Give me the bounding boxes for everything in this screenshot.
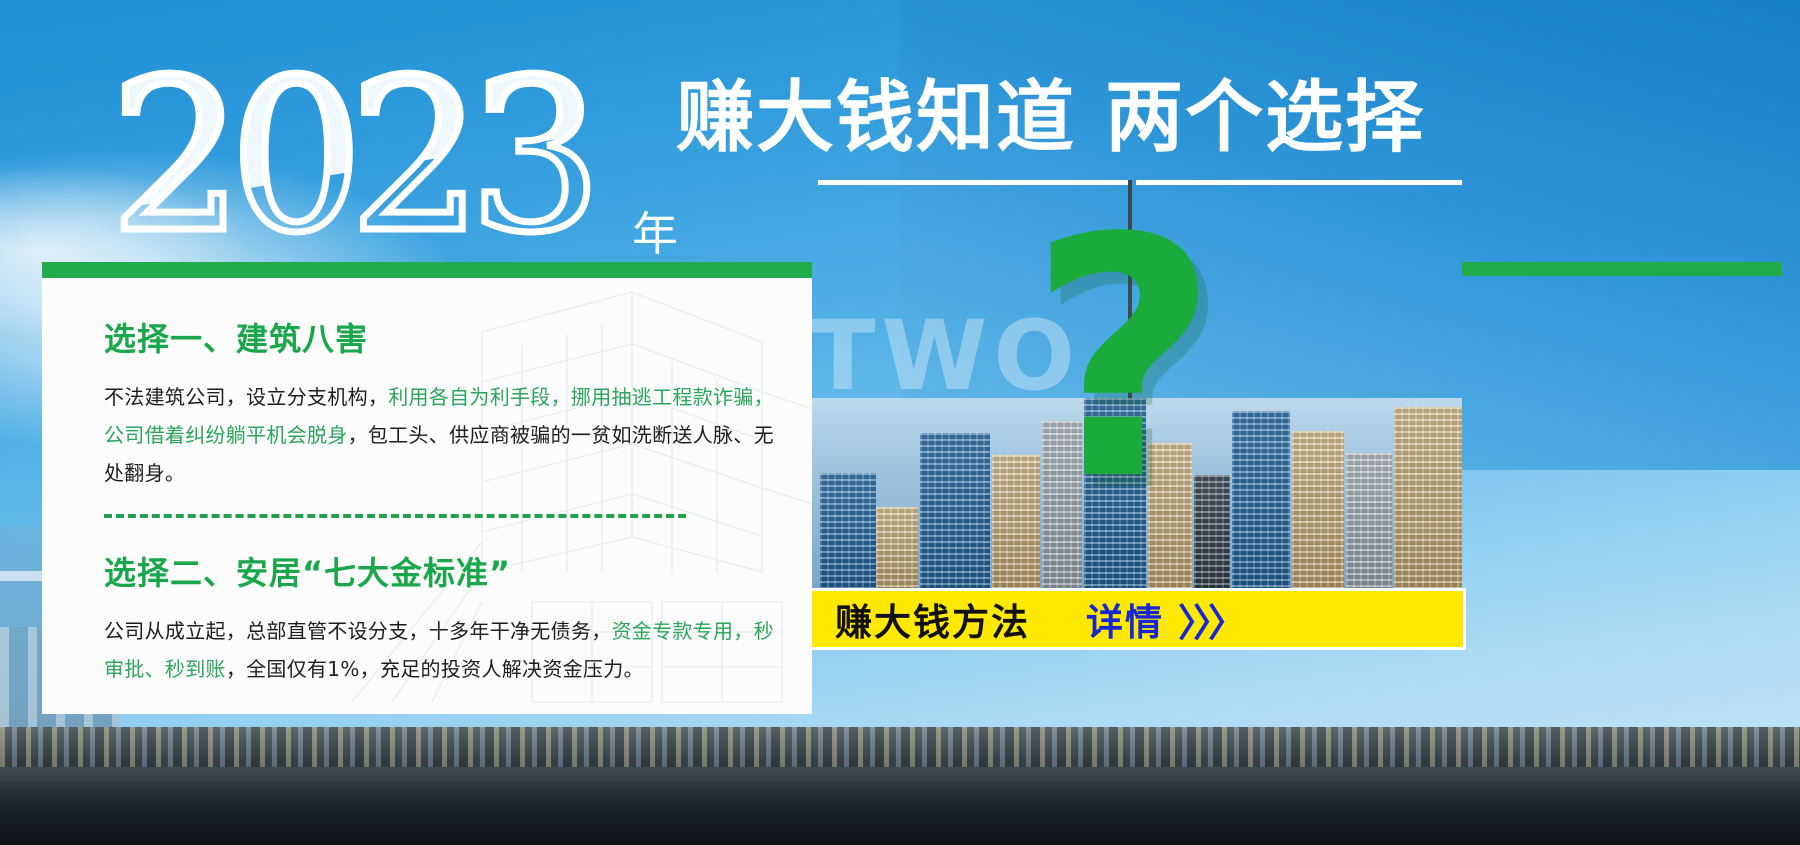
text-part: 公司从成立起，总部直管不设分支，十多年干净无债务， (104, 619, 612, 643)
page-title: 赚大钱知道 两个选择 (676, 76, 1425, 160)
text-part: ，全国仅有1%，充足的投资人解决资金压力。 (226, 657, 644, 681)
content-card: 选择一、建筑八害 不法建筑公司，设立分支机构，利用各自为利手段，挪用抽逃工程款诈… (42, 262, 812, 714)
cta-banner[interactable]: 赚大钱方法 详情 〉〉〉 (806, 588, 1466, 650)
cta-detail-link[interactable]: 详情 (1086, 592, 1164, 646)
year-suffix-label: 年 (632, 198, 678, 264)
chevron-right-icon: 〉〉〉 (1178, 592, 1242, 647)
section-one-paragraph: 不法建筑公司，设立分支机构，利用各自为利手段，挪用抽逃工程款诈骗，公司借着纠纷躺… (104, 378, 786, 492)
section-divider (104, 514, 686, 518)
city-skyline-bottom-band (0, 727, 1800, 845)
section-one-title: 选择一、建筑八害 (104, 314, 794, 360)
section-two-title: 选择二、安居“七大金标准” (104, 548, 794, 594)
question-mark-graphic: ? (1028, 210, 1219, 510)
text-part: 不法建筑公司，设立分支机构， (104, 385, 388, 409)
section-one: 选择一、建筑八害 不法建筑公司，设立分支机构，利用各自为利手段，挪用抽逃工程款诈… (104, 314, 794, 492)
green-accent-bar-right (1462, 262, 1782, 276)
promo-poster: 2023 2023 年 赚大钱知道 两个选择 TWO CHOICES ? 赚大钱… (0, 0, 1800, 845)
card-body: 选择一、建筑八害 不法建筑公司，设立分支机构，利用各自为利手段，挪用抽逃工程款诈… (104, 314, 794, 688)
section-two: 选择二、安居“七大金标准” 公司从成立起，总部直管不设分支，十多年干净无债务，资… (104, 548, 794, 688)
cta-main-label: 赚大钱方法 (835, 592, 1030, 646)
section-two-paragraph: 公司从成立起，总部直管不设分支，十多年干净无债务，资金专款专用，秒审批、秒到账，… (104, 612, 786, 688)
year-outline: 2023 (110, 62, 588, 252)
